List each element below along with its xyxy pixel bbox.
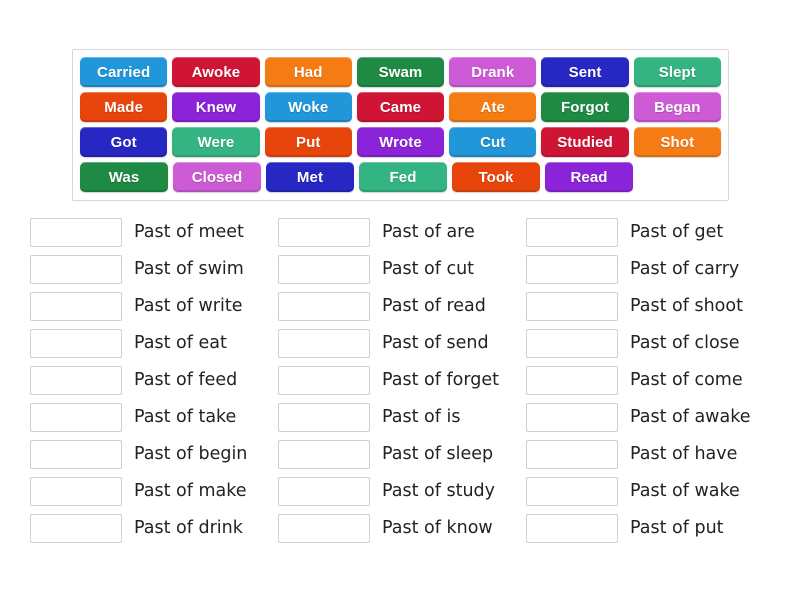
- word-tile[interactable]: Began: [634, 92, 721, 122]
- drop-target-box[interactable]: [526, 366, 618, 395]
- answer-prompt-label: Past of shoot: [630, 298, 743, 316]
- answer-row: Past of are: [278, 214, 526, 251]
- answer-prompt-label: Past of are: [382, 224, 475, 242]
- answer-prompt-label: Past of eat: [134, 335, 227, 353]
- answer-prompt-label: Past of make: [134, 483, 247, 501]
- drop-target-box[interactable]: [30, 329, 122, 358]
- drop-target-box[interactable]: [526, 403, 618, 432]
- answer-prompt-label: Past of begin: [134, 446, 247, 464]
- answer-row: Past of carry: [526, 251, 774, 288]
- drop-target-box[interactable]: [278, 366, 370, 395]
- answer-row: Past of put: [526, 510, 774, 547]
- answer-row: Past of know: [278, 510, 526, 547]
- answer-row: Past of come: [526, 362, 774, 399]
- answer-row: Past of write: [30, 288, 278, 325]
- word-tile[interactable]: Fed: [359, 162, 447, 192]
- word-tile[interactable]: Read: [545, 162, 633, 192]
- answer-row: Past of swim: [30, 251, 278, 288]
- drop-target-box[interactable]: [278, 514, 370, 543]
- drop-target-box[interactable]: [278, 292, 370, 321]
- answer-prompt-label: Past of carry: [630, 261, 739, 279]
- drop-target-box[interactable]: [30, 255, 122, 284]
- answer-row: Past of awake: [526, 399, 774, 436]
- tile-row: Made Knew Woke Came Ate Forgot Began: [78, 90, 724, 125]
- answer-row: Past of forget: [278, 362, 526, 399]
- drop-target-box[interactable]: [278, 440, 370, 469]
- answer-prompt-label: Past of send: [382, 335, 489, 353]
- answer-prompt-label: Past of close: [630, 335, 740, 353]
- word-tile[interactable]: Woke: [265, 92, 352, 122]
- answer-row: Past of drink: [30, 510, 278, 547]
- answer-prompt-label: Past of know: [382, 520, 493, 538]
- answer-prompt-label: Past of drink: [134, 520, 243, 538]
- answer-column-1: Past of meet Past of swim Past of write …: [30, 214, 278, 547]
- word-tile[interactable]: Put: [265, 127, 352, 157]
- drop-target-box[interactable]: [526, 329, 618, 358]
- drop-target-box[interactable]: [30, 366, 122, 395]
- word-tile[interactable]: Awoke: [172, 57, 259, 87]
- answer-prompt-label: Past of feed: [134, 372, 237, 390]
- answer-prompt-label: Past of write: [134, 298, 242, 316]
- answer-row: Past of feed: [30, 362, 278, 399]
- word-tile[interactable]: Came: [357, 92, 444, 122]
- word-tile[interactable]: Cut: [449, 127, 536, 157]
- answer-column-3: Past of get Past of carry Past of shoot …: [526, 214, 774, 547]
- drop-target-box[interactable]: [30, 477, 122, 506]
- answer-row: Past of cut: [278, 251, 526, 288]
- drop-target-box[interactable]: [30, 218, 122, 247]
- word-tile[interactable]: Forgot: [541, 92, 628, 122]
- word-tile[interactable]: Took: [452, 162, 540, 192]
- answer-prompt-label: Past of cut: [382, 261, 474, 279]
- answer-prompt-label: Past of get: [630, 224, 723, 242]
- drop-target-box[interactable]: [30, 514, 122, 543]
- word-tile[interactable]: Shot: [634, 127, 721, 157]
- answer-row: Past of take: [30, 399, 278, 436]
- answer-row: Past of have: [526, 436, 774, 473]
- word-tile[interactable]: Drank: [449, 57, 536, 87]
- answer-row: Past of make: [30, 473, 278, 510]
- answer-prompt-label: Past of awake: [630, 409, 751, 427]
- word-tile[interactable]: Had: [265, 57, 352, 87]
- word-tile[interactable]: Made: [80, 92, 167, 122]
- answer-row: Past of send: [278, 325, 526, 362]
- word-tile[interactable]: Met: [266, 162, 354, 192]
- word-tile[interactable]: Sent: [541, 57, 628, 87]
- word-tile[interactable]: Knew: [172, 92, 259, 122]
- word-tile[interactable]: Was: [80, 162, 168, 192]
- answer-row: Past of sleep: [278, 436, 526, 473]
- answer-row: Past of is: [278, 399, 526, 436]
- drop-target-box[interactable]: [526, 292, 618, 321]
- answer-prompt-label: Past of wake: [630, 483, 740, 501]
- answer-prompt-label: Past of put: [630, 520, 724, 538]
- answer-row: Past of shoot: [526, 288, 774, 325]
- answer-row: Past of eat: [30, 325, 278, 362]
- drop-target-box[interactable]: [526, 477, 618, 506]
- answer-row: Past of wake: [526, 473, 774, 510]
- answer-column-2: Past of are Past of cut Past of read Pas…: [278, 214, 526, 547]
- answer-row: Past of read: [278, 288, 526, 325]
- drop-target-box[interactable]: [526, 440, 618, 469]
- drop-target-box[interactable]: [526, 255, 618, 284]
- answer-row: Past of close: [526, 325, 774, 362]
- word-tile[interactable]: Swam: [357, 57, 444, 87]
- tile-row: Was Closed Met Fed Took Read: [78, 160, 724, 195]
- answer-prompt-label: Past of take: [134, 409, 236, 427]
- word-tile[interactable]: Ate: [449, 92, 536, 122]
- drop-target-box[interactable]: [30, 440, 122, 469]
- answer-grid: Past of meet Past of swim Past of write …: [30, 214, 774, 547]
- word-tile[interactable]: Were: [172, 127, 259, 157]
- answer-row: Past of begin: [30, 436, 278, 473]
- answer-prompt-label: Past of meet: [134, 224, 244, 242]
- word-tile[interactable]: Studied: [541, 127, 628, 157]
- drop-target-box[interactable]: [278, 477, 370, 506]
- drop-target-box[interactable]: [526, 514, 618, 543]
- answer-prompt-label: Past of forget: [382, 372, 499, 390]
- drop-target-box[interactable]: [278, 403, 370, 432]
- word-tile[interactable]: Slept: [634, 57, 721, 87]
- answer-row: Past of meet: [30, 214, 278, 251]
- answer-prompt-label: Past of have: [630, 446, 737, 464]
- tile-row: Got Were Put Wrote Cut Studied Shot: [78, 125, 724, 160]
- answer-prompt-label: Past of swim: [134, 261, 244, 279]
- word-tile[interactable]: Carried: [80, 57, 167, 87]
- drop-target-box[interactable]: [526, 218, 618, 247]
- answer-prompt-label: Past of study: [382, 483, 495, 501]
- answer-prompt-label: Past of read: [382, 298, 486, 316]
- word-tile[interactable]: Closed: [173, 162, 261, 192]
- answer-row: Past of study: [278, 473, 526, 510]
- answer-row: Past of get: [526, 214, 774, 251]
- word-tile-bank: Carried Awoke Had Swam Drank Sent Slept …: [72, 49, 729, 201]
- drop-target-box[interactable]: [278, 255, 370, 284]
- drop-target-box[interactable]: [278, 218, 370, 247]
- drop-target-box[interactable]: [30, 403, 122, 432]
- answer-prompt-label: Past of come: [630, 372, 743, 390]
- drop-target-box[interactable]: [30, 292, 122, 321]
- answer-prompt-label: Past of is: [382, 409, 460, 427]
- word-tile[interactable]: Wrote: [357, 127, 444, 157]
- drop-target-box[interactable]: [278, 329, 370, 358]
- word-tile[interactable]: Got: [80, 127, 167, 157]
- answer-prompt-label: Past of sleep: [382, 446, 493, 464]
- tile-row: Carried Awoke Had Swam Drank Sent Slept: [78, 55, 724, 90]
